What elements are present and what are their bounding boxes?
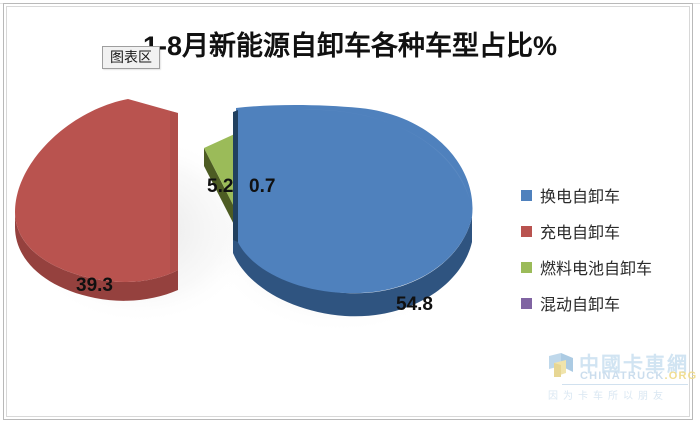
legend-swatch-icon-4 xyxy=(521,298,532,309)
data-label-充电自卸车: 39.3 xyxy=(76,275,113,297)
chart-area-tooltip-label: 图表区 xyxy=(110,49,152,65)
legend-swatch-icon-2 xyxy=(521,226,532,237)
legend-item-换电自卸车[interactable]: 换电自卸车 xyxy=(521,177,691,213)
legend-label-4: 混动自卸车 xyxy=(540,291,620,315)
data-label-燃料电池自卸车: 5.2 xyxy=(207,176,233,198)
pie-chart[interactable]: 54.8 39.3 5.2 0.7 xyxy=(0,70,510,360)
data-label-混动自卸车: 0.7 xyxy=(249,176,275,198)
chinatruck-logo-icon xyxy=(548,352,574,380)
red-slice-top xyxy=(15,99,178,282)
legend-label-1: 换电自卸车 xyxy=(540,183,620,207)
legend-label-3: 燃料电池自卸车 xyxy=(540,255,652,279)
legend-label-2: 充电自卸车 xyxy=(540,219,620,243)
legend-item-充电自卸车[interactable]: 充电自卸车 xyxy=(521,213,691,249)
chart-legend[interactable]: 换电自卸车 充电自卸车 燃料电池自卸车 混动自卸车 xyxy=(521,177,691,321)
watermark: 中國卡車網 CHINATRUCK.ORG 因为卡车所以朋友 xyxy=(548,348,688,404)
watermark-name-en-main: CHINATRUCK xyxy=(580,370,665,382)
watermark-name-en: CHINATRUCK.ORG xyxy=(580,370,697,382)
watermark-tagline: 因为卡车所以朋友 xyxy=(548,387,690,402)
legend-swatch-icon-1 xyxy=(521,190,532,201)
legend-swatch-icon-3 xyxy=(521,262,532,273)
watermark-divider xyxy=(562,384,688,385)
blue-slice-top xyxy=(236,105,473,293)
chart-screenshot: 1-8月新能源自卸车各种车型占比% xyxy=(0,0,700,430)
red-slice-edge-shade xyxy=(170,111,178,273)
pie-slice-换电自卸车[interactable] xyxy=(233,105,473,316)
chart-area-tooltip: 图表区 xyxy=(102,46,160,69)
data-label-换电自卸车: 54.8 xyxy=(396,294,433,316)
blue-slice-inner-edge xyxy=(233,110,238,242)
pie-slice-充电自卸车[interactable] xyxy=(15,99,178,301)
pie-chart-svg xyxy=(0,70,510,360)
legend-item-混动自卸车[interactable]: 混动自卸车 xyxy=(521,285,691,321)
legend-item-燃料电池自卸车[interactable]: 燃料电池自卸车 xyxy=(521,249,691,285)
watermark-name-en-suffix: .ORG xyxy=(665,370,698,382)
